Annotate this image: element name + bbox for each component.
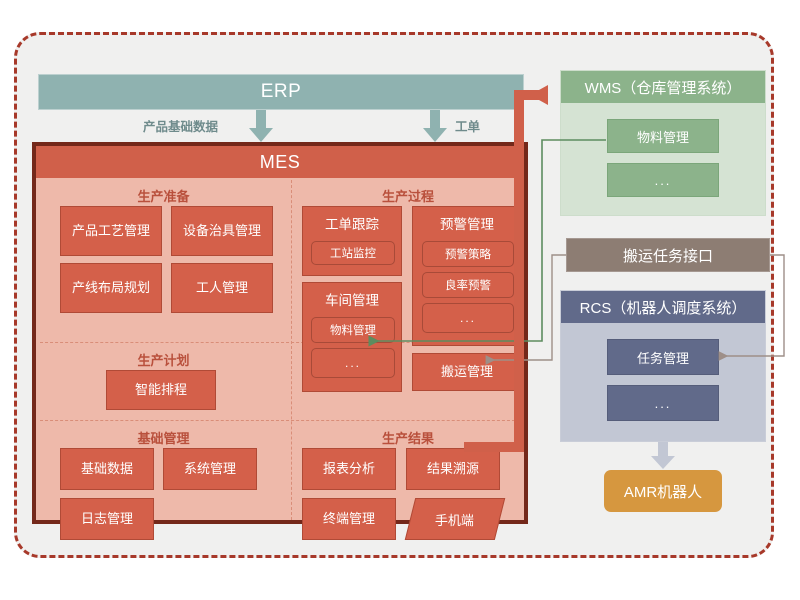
- divider-horizontal-2: [40, 420, 520, 421]
- module-group-workshop-mgmt[interactable]: 车间管理 物料管理 ...: [302, 282, 402, 392]
- module-mobile-client-label: 手机端: [435, 510, 474, 529]
- wms-item-more[interactable]: ...: [607, 163, 719, 197]
- mes-body: 生产准备 产品工艺管理 设备治具管理 产线布局规划 工人管理 生产计划 智能排程…: [36, 178, 524, 520]
- wms-container: WMS（仓库管理系统） 物料管理 ...: [560, 70, 766, 216]
- group-title: 工单跟踪: [303, 213, 401, 233]
- rcs-item-task-mgmt[interactable]: 任务管理: [607, 339, 719, 375]
- section-title-plan: 生产计划: [36, 350, 291, 369]
- sub-more-workshop[interactable]: ...: [311, 348, 395, 378]
- module-report-analysis[interactable]: 报表分析: [302, 448, 396, 490]
- amr-robot-block: AMR机器人: [604, 470, 722, 512]
- sub-alarm-strategy[interactable]: 预警策略: [422, 241, 514, 267]
- mes-title: MES: [36, 146, 524, 178]
- section-title-result: 生产结果: [292, 428, 524, 447]
- module-worker-mgmt[interactable]: 工人管理: [171, 263, 273, 313]
- mes-container: MES 生产准备 产品工艺管理 设备治具管理 产线布局规划 工人管理 生产计划 …: [32, 142, 528, 524]
- module-smart-scheduling[interactable]: 智能排程: [106, 370, 216, 410]
- rcs-title: RCS（机器人调度系统）: [561, 291, 765, 323]
- module-system-mgmt[interactable]: 系统管理: [163, 448, 257, 490]
- wms-item-material-mgmt[interactable]: 物料管理: [607, 119, 719, 153]
- module-group-work-order-tracking[interactable]: 工单跟踪 工站监控: [302, 206, 402, 276]
- module-line-layout-plan[interactable]: 产线布局规划: [60, 263, 162, 313]
- rcs-item-more[interactable]: ...: [607, 385, 719, 421]
- section-title-prep: 生产准备: [36, 186, 291, 205]
- wms-title: WMS（仓库管理系统）: [561, 71, 765, 103]
- module-product-process-mgmt[interactable]: 产品工艺管理: [60, 206, 162, 256]
- module-log-mgmt[interactable]: 日志管理: [60, 498, 154, 540]
- module-equipment-fixture-mgmt[interactable]: 设备治具管理: [171, 206, 273, 256]
- module-terminal-mgmt[interactable]: 终端管理: [302, 498, 396, 540]
- erp-block[interactable]: ERP: [38, 74, 524, 110]
- flow-label-product-base-data: 产品基础数据: [143, 116, 218, 135]
- module-basic-data[interactable]: 基础数据: [60, 448, 154, 490]
- section-title-basic: 基础管理: [36, 428, 291, 447]
- group-title: 车间管理: [303, 289, 401, 309]
- module-transport-mgmt[interactable]: 搬运管理: [412, 353, 522, 391]
- rcs-container: RCS（机器人调度系统） 任务管理 ...: [560, 290, 766, 442]
- module-result-traceability[interactable]: 结果溯源: [406, 448, 500, 490]
- flow-label-work-order: 工单: [455, 116, 480, 135]
- sub-material-mgmt[interactable]: 物料管理: [311, 317, 395, 343]
- module-group-alarm-mgmt[interactable]: 预警管理 预警策略 良率预警 ...: [412, 206, 522, 346]
- module-mobile-client[interactable]: 手机端: [405, 498, 505, 540]
- transport-task-interface[interactable]: 搬运任务接口: [566, 238, 770, 272]
- group-title: 预警管理: [413, 213, 521, 233]
- sub-yield-alarm[interactable]: 良率预警: [422, 272, 514, 298]
- sub-more-alarm[interactable]: ...: [422, 303, 514, 333]
- sub-station-monitoring[interactable]: 工站监控: [311, 241, 395, 265]
- divider-vertical: [291, 180, 292, 520]
- section-title-process: 生产过程: [292, 186, 524, 205]
